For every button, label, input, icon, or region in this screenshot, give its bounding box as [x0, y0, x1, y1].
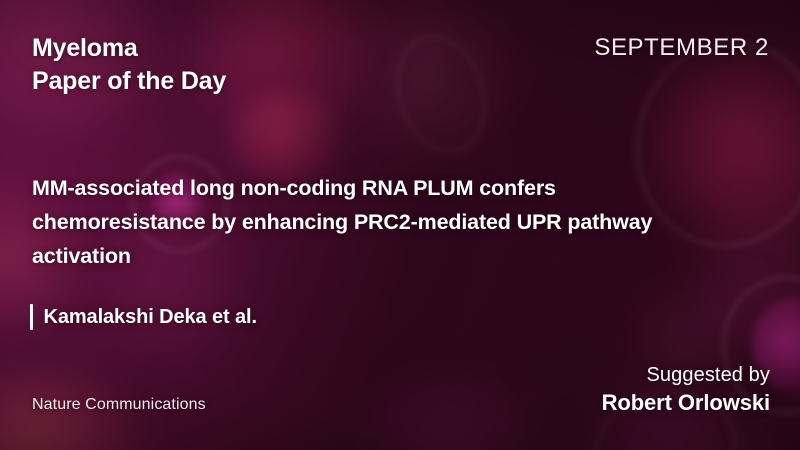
- paper-of-the-day-card: Myeloma Paper of the Day SEPTEMBER 2 MM-…: [0, 0, 800, 450]
- suggested-by-label: Suggested by: [602, 362, 770, 389]
- brand-title-line1: Myeloma: [32, 32, 226, 65]
- author-names: Kamalakshi Deka et al.: [44, 306, 257, 329]
- paper-authors: Kamalakshi Deka et al.: [30, 304, 257, 330]
- brand-title: Myeloma Paper of the Day: [32, 32, 226, 98]
- date-label: SEPTEMBER 2: [594, 34, 769, 62]
- journal-name: Nature Communications: [32, 396, 206, 414]
- paper-title: MM-associated long non-coding RNA PLUM c…: [32, 172, 672, 274]
- brand-title-line2: Paper of the Day: [32, 65, 226, 98]
- author-divider-bar: [30, 304, 33, 330]
- suggested-by-block: Suggested by Robert Orlowski: [602, 362, 770, 418]
- suggested-by-name: Robert Orlowski: [602, 389, 770, 418]
- card-content: Myeloma Paper of the Day SEPTEMBER 2 MM-…: [0, 0, 800, 450]
